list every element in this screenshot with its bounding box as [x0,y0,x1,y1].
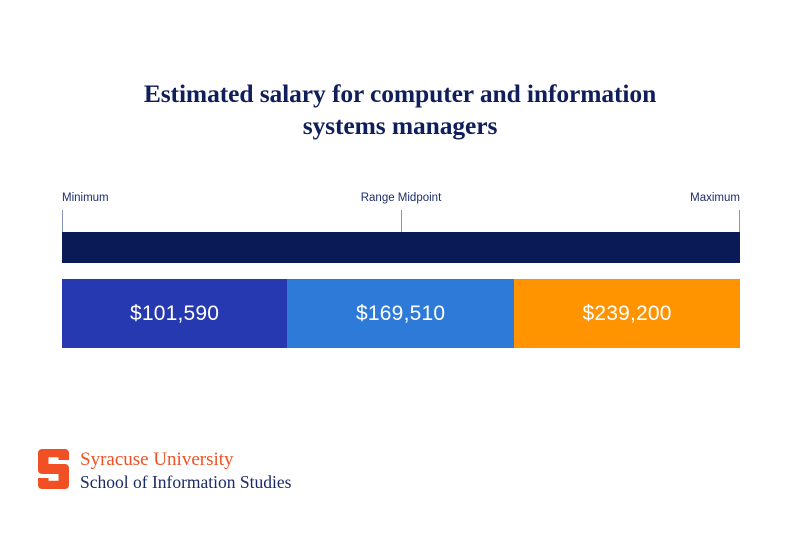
chart-title-line-1: Estimated salary for computer and inform… [144,79,656,108]
axis-label-range-midpoint: Range Midpoint [361,190,442,206]
axis-label-maximum: Maximum [690,190,740,206]
syracuse-block-s-icon [38,449,69,489]
axis-label-row: Minimum Range Midpoint Maximum [62,190,740,206]
axis-tick-row [62,210,740,232]
chart-title: Estimated salary for computer and inform… [100,78,700,143]
syracuse-logo-text: Syracuse University School of Informatio… [80,449,291,491]
segment-range-midpoint-value: $169,510 [356,302,445,326]
tick-range-midpoint [401,210,402,232]
segment-maximum: $239,200 [514,279,740,348]
segment-maximum-value: $239,200 [583,302,672,326]
syracuse-logo-line-1: Syracuse University [80,450,291,471]
tick-maximum [739,210,740,232]
segment-range-midpoint: $169,510 [287,279,514,348]
syracuse-logo-line-2: School of Information Studies [80,473,291,492]
syracuse-logo: Syracuse University School of Informatio… [38,449,291,491]
tick-minimum [62,210,63,232]
chart-canvas: Estimated salary for computer and inform… [0,0,800,533]
axis-label-minimum: Minimum [62,190,109,206]
value-bar: $101,590 $169,510 $239,200 [62,279,740,348]
chart-title-line-2: systems managers [303,111,498,140]
range-bar [62,232,740,263]
segment-minimum-value: $101,590 [130,302,219,326]
segment-minimum: $101,590 [62,279,287,348]
